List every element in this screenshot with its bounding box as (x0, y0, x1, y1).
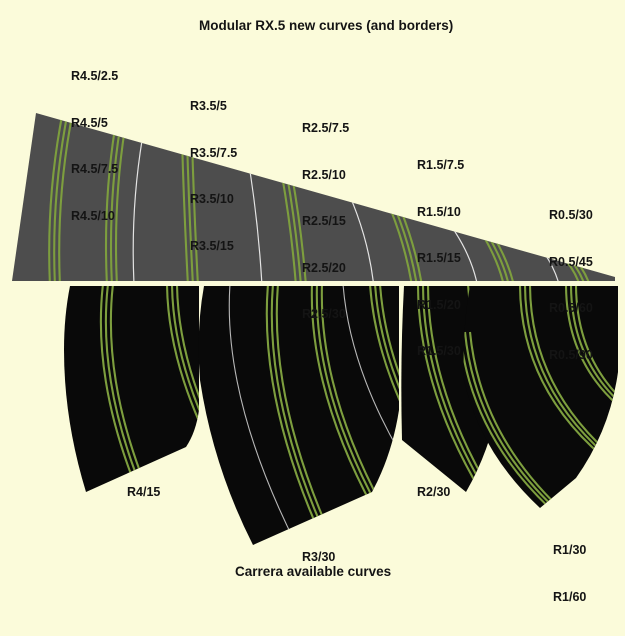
label-r1.5-7.5: R1.5/7.5 (417, 158, 464, 174)
label-r3.5-15: R3.5/15 (190, 239, 237, 255)
label-r2.5-30: R2.5/30 (302, 307, 349, 323)
label-r3.5-7.5: R3.5/7.5 (190, 146, 237, 162)
label-r2.5-20: R2.5/20 (302, 261, 349, 277)
label-r4.5-5: R4.5/5 (71, 116, 118, 132)
label-r3.5-5: R3.5/5 (190, 99, 237, 115)
carrera-segment-r1 (460, 284, 625, 514)
label-r1.5-30: R1.5/30 (417, 344, 464, 360)
label-group-r0-5: R0.5/30 R0.5/45 R0.5/60 R0.5/90 (549, 177, 593, 394)
label-group-r3-5: R3.5/5 R3.5/7.5 R3.5/10 R3.5/15 (190, 68, 237, 285)
label-r1.5-20: R1.5/20 (417, 298, 464, 314)
label-group-r1-5: R1.5/7.5 R1.5/10 R1.5/15 R1.5/20 R1.5/30 (417, 127, 464, 391)
label-r4-15: R4/15 (127, 454, 160, 532)
label-r4-15-text: R4/15 (127, 485, 160, 501)
label-r1-60-text: R1/60 (553, 590, 586, 606)
label-r2-30: R2/30 (417, 454, 450, 532)
label-r2-30-text: R2/30 (417, 485, 450, 501)
label-r1.5-15: R1.5/15 (417, 251, 464, 267)
label-r1-30-text: R1/30 (553, 543, 586, 559)
diagram-canvas: Modular RX.5 new curves (and borders) Ca… (0, 0, 625, 625)
label-r0.5-45: R0.5/45 (549, 255, 593, 271)
label-r1.5-10: R1.5/10 (417, 205, 464, 221)
label-group-r4-5: R4.5/2.5 R4.5/5 R4.5/7.5 R4.5/10 (71, 38, 118, 255)
label-r3-30: R3/30 (302, 519, 335, 597)
label-r0.5-30: R0.5/30 (549, 208, 593, 224)
label-r2.5-15: R2.5/15 (302, 214, 349, 230)
label-r2.5-10: R2.5/10 (302, 168, 349, 184)
label-r4.5-2.5: R4.5/2.5 (71, 69, 118, 85)
label-r4.5-10: R4.5/10 (71, 209, 118, 225)
label-r3-30-text: R3/30 (302, 550, 335, 566)
label-r4.5-7.5: R4.5/7.5 (71, 162, 118, 178)
page-title-modular: Modular RX.5 new curves (and borders) (199, 18, 453, 33)
label-r3.5-10: R3.5/10 (190, 192, 237, 208)
label-r0.5-90: R0.5/90 (549, 348, 593, 364)
label-r0.5-60: R0.5/60 (549, 301, 593, 317)
label-group-r2-5: R2.5/7.5 R2.5/10 R2.5/15 R2.5/20 R2.5/30 (302, 90, 349, 354)
label-r1-group: R1/30 R1/60 (553, 512, 586, 636)
label-r2.5-7.5: R2.5/7.5 (302, 121, 349, 137)
